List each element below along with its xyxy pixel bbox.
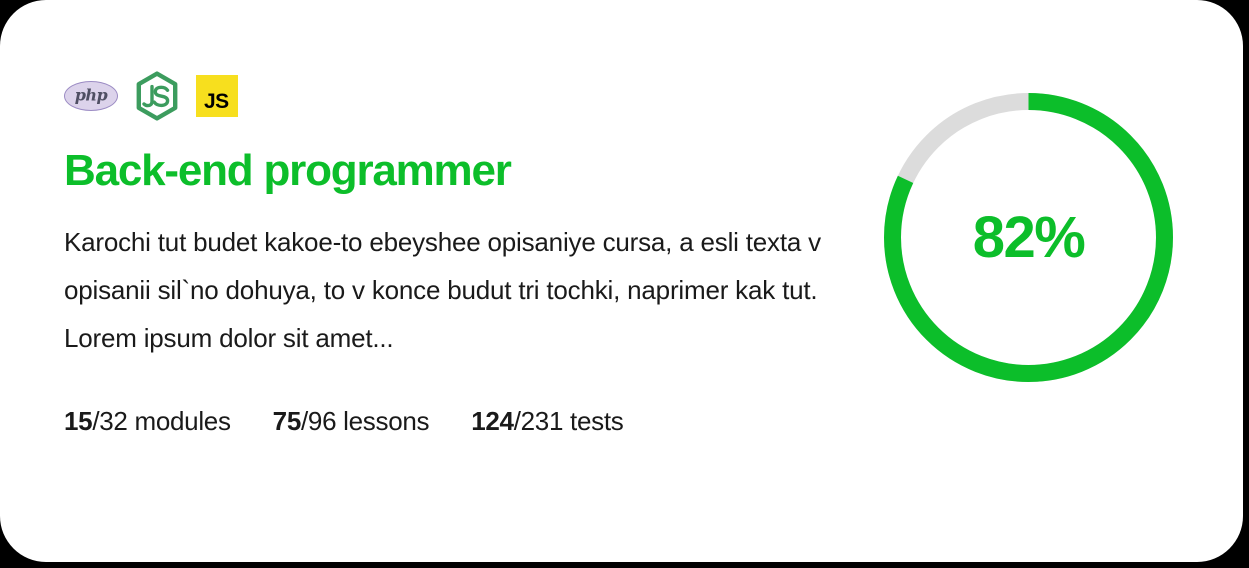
php-icon-shape: php xyxy=(64,81,118,111)
stat-tests-current: 124 xyxy=(471,406,513,436)
php-icon: php xyxy=(64,81,118,111)
course-description: Karochi tut budet kakoe-to ebeyshee opis… xyxy=(64,218,824,362)
tech-stack-icons: php JS xyxy=(64,72,834,120)
stat-lessons: 75/96 lessons xyxy=(273,406,430,437)
nodejs-icon xyxy=(134,71,180,121)
javascript-icon: JS xyxy=(196,75,238,117)
stat-modules-current: 15 xyxy=(64,406,92,436)
stat-modules: 15/32 modules xyxy=(64,406,231,437)
javascript-icon-label: JS xyxy=(204,91,229,112)
javascript-icon-shape: JS xyxy=(196,75,238,117)
stat-modules-total: /32 modules xyxy=(92,406,230,436)
stat-lessons-current: 75 xyxy=(273,406,301,436)
progress-percentage-label: 82% xyxy=(884,93,1173,382)
progress-ring: 82% xyxy=(884,93,1173,382)
course-info-column: php JS Back-end programmer Karochi tut b… xyxy=(64,72,834,437)
stat-lessons-total: /96 lessons xyxy=(301,406,429,436)
course-stats-row: 15/32 modules 75/96 lessons 124/231 test… xyxy=(64,406,834,437)
course-title: Back-end programmer xyxy=(64,148,834,194)
nodejs-icon-shape xyxy=(134,71,180,121)
php-icon-label: php xyxy=(75,88,108,104)
stat-tests-total: /231 tests xyxy=(514,406,624,436)
stat-tests: 124/231 tests xyxy=(471,406,623,437)
course-progress-card: php JS Back-end programmer Karochi tut b… xyxy=(0,0,1243,562)
